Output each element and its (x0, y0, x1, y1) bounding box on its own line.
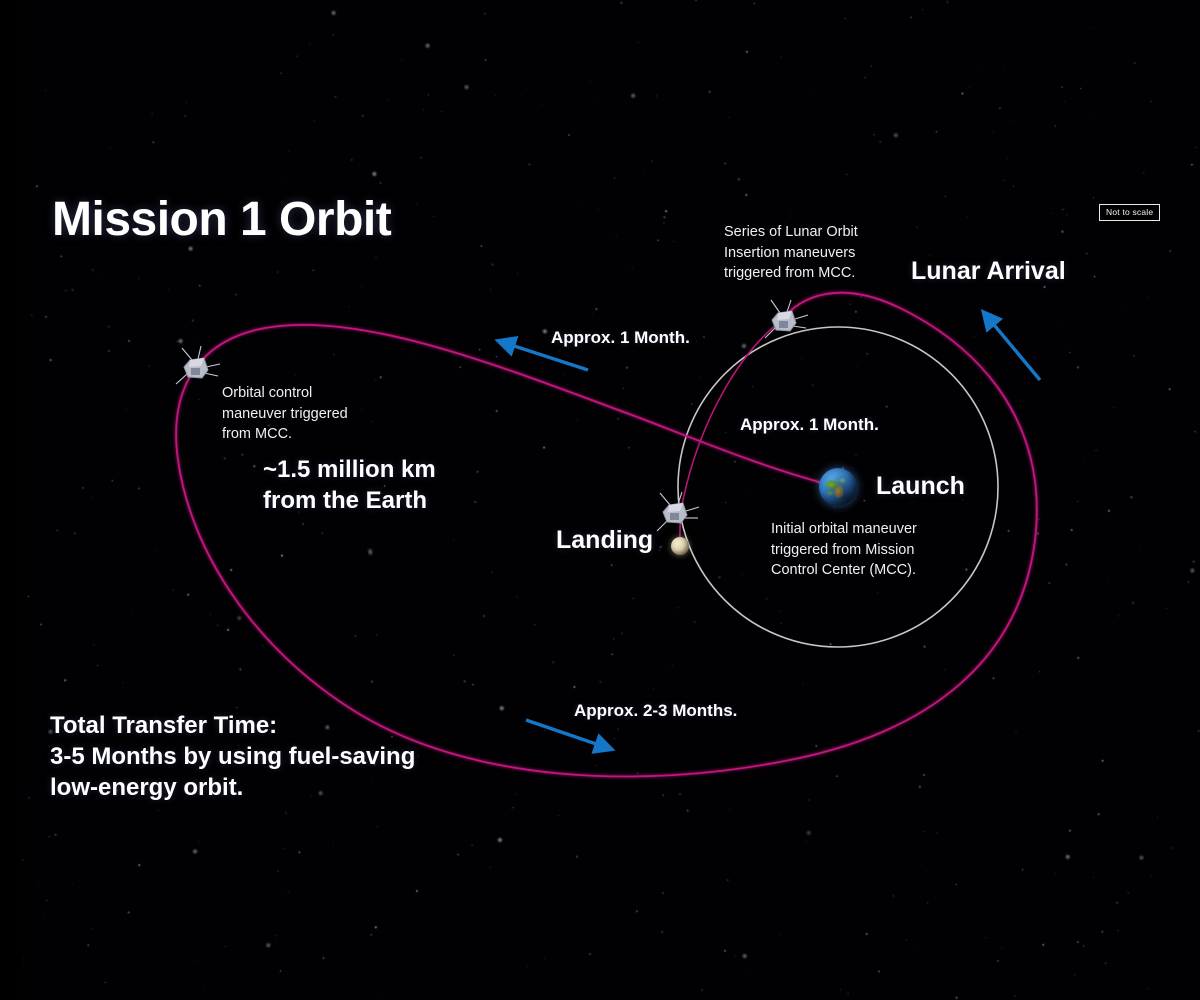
distance-line: ~1.5 million km (263, 454, 436, 485)
annotation-line: Initial orbital maneuver (771, 519, 917, 540)
spacecraft-apogee-icon (168, 340, 224, 396)
transfer-line: Total Transfer Time: (50, 710, 415, 741)
spacecraft-lunar-insertion-icon (756, 293, 812, 349)
lunar-insertion-annotation: Series of Lunar Orbit Insertion maneuver… (724, 222, 858, 284)
annotation-line: triggered from Mission (771, 540, 917, 561)
annotation-line: from MCC. (222, 424, 348, 445)
lunar-arrival-label: Lunar Arrival (911, 257, 1066, 286)
annotation-line: triggered from MCC. (724, 263, 858, 284)
annotation-line: Control Center (MCC). (771, 560, 917, 581)
annotation-line: Insertion maneuvers (724, 243, 858, 264)
orbit-paths-layer (0, 0, 1200, 1000)
total-transfer-time-block: Total Transfer Time: 3-5 Months by using… (50, 710, 415, 804)
annotation-line: Orbital control (222, 383, 348, 404)
arrow-far-loop (526, 720, 602, 746)
arrow-lunar-arrival (990, 320, 1040, 380)
initial-maneuver-annotation: Initial orbital maneuver triggered from … (771, 519, 917, 581)
not-to-scale-badge: Not to scale (1099, 204, 1160, 221)
page-title: Mission 1 Orbit (52, 196, 391, 244)
distance-line: from the Earth (263, 485, 436, 516)
orbital-control-annotation: Orbital control maneuver triggered from … (222, 383, 348, 445)
apogee-distance-label: ~1.5 million km from the Earth (263, 454, 436, 516)
launch-label: Launch (876, 472, 965, 501)
annotation-line: Series of Lunar Orbit (724, 222, 858, 243)
annotation-line: maneuver triggered (222, 404, 348, 425)
return-duration-label: Approx. 1 Month. (740, 415, 879, 435)
transfer-line: 3-5 Months by using fuel-saving (50, 741, 415, 772)
far-loop-duration-label: Approx. 2-3 Months. (574, 701, 737, 721)
diagram-canvas: Mission 1 Orbit Not to scale Series of L… (0, 0, 1200, 1000)
outbound-duration-label: Approx. 1 Month. (551, 328, 690, 348)
transfer-line: low-energy orbit. (50, 772, 415, 803)
spacecraft-landing-icon (647, 485, 703, 541)
earth-body (819, 468, 857, 506)
landing-label: Landing (556, 526, 653, 555)
